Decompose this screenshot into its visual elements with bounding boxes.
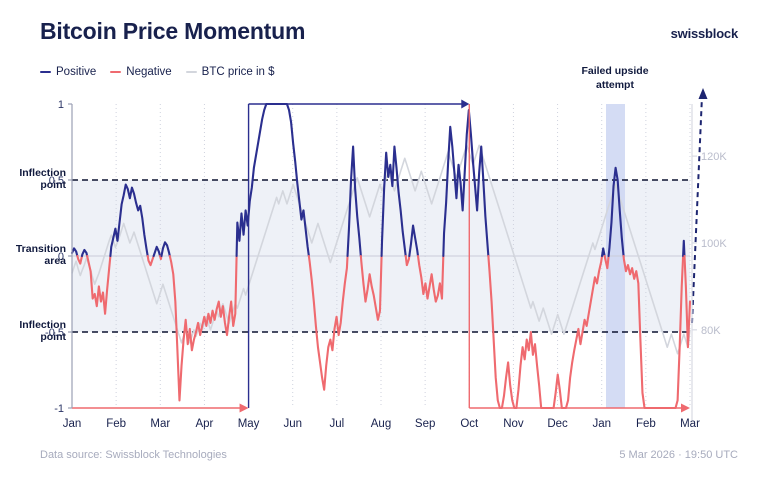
x-tick-label: Jul: [330, 418, 345, 430]
transition-area-line1: Transition: [16, 243, 66, 255]
annotation-failed-upside-line2: attempt: [596, 79, 634, 91]
momentum-positive-segment: [683, 241, 684, 256]
momentum-chart-svg: 10.50-0.5-1120K100K80KJanFebMarAprMayJun…: [0, 0, 768, 483]
x-tick-label: Nov: [503, 418, 524, 430]
y2-tick-label: 80K: [701, 325, 721, 337]
x-tick-label: Feb: [636, 418, 656, 430]
x-tick-label: Dec: [547, 418, 568, 430]
projection-arrow-head: [699, 88, 708, 99]
annotation-red-arrowhead: [681, 404, 690, 413]
annotation-navy-arrowhead: [461, 100, 469, 109]
y2-tick-label: 100K: [701, 238, 727, 250]
x-tick-label: Jun: [283, 418, 302, 430]
inflection-point-lower-line1: Inflection: [19, 319, 66, 331]
x-tick-label: Feb: [106, 418, 126, 430]
x-tick-label: Apr: [195, 418, 213, 430]
x-tick-label: Jan: [63, 418, 82, 430]
x-tick-label: Oct: [460, 418, 479, 430]
footer-timestamp: 5 Mar 2026 · 19:50 UTC: [619, 449, 738, 461]
x-tick-label: May: [238, 418, 260, 430]
transition-area-line2: area: [44, 255, 66, 267]
x-tick-label: Sep: [415, 418, 435, 430]
inflection-point-upper-line1: Inflection: [19, 167, 66, 179]
x-tick-label: Mar: [150, 418, 170, 430]
x-tick-label: Jan: [592, 418, 611, 430]
inflection-point-lower-line2: point: [40, 331, 66, 343]
inflection-point-upper-line2: point: [40, 179, 66, 191]
projection-arrow-line: [692, 96, 702, 323]
chart-page: Bitcoin Price Momentum swissblock Positi…: [0, 0, 768, 483]
y-tick-label: -1: [54, 403, 64, 415]
chart-plot-area: 10.50-0.5-1120K100K80KJanFebMarAprMayJun…: [0, 0, 768, 483]
annotation-failed-upside-line1: Failed upside: [581, 65, 648, 77]
annotation-red-baseline-arrowhead: [240, 404, 249, 413]
x-tick-label: Mar: [680, 418, 700, 430]
x-tick-label: Aug: [371, 418, 391, 430]
y-tick-label: 1: [58, 99, 64, 111]
footer-data-source: Data source: Swissblock Technologies: [40, 449, 227, 461]
y2-tick-label: 120K: [701, 151, 727, 163]
